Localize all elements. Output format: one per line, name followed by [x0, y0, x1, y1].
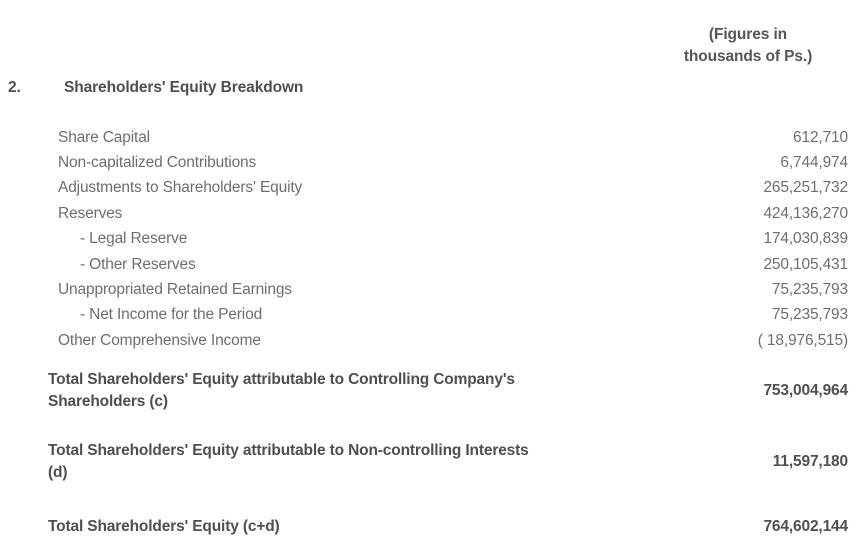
table-row: Non-capitalized Contributions 6,744,974 [0, 150, 865, 175]
row-value: 174,030,839 [700, 227, 865, 252]
row-label: Other Comprehensive Income [0, 328, 700, 353]
table-row: Other Comprehensive Income ( 18,976,515) [0, 328, 865, 353]
total-value: 753,004,964 [700, 354, 865, 422]
row-value: ( 18,976,515) [700, 328, 865, 353]
equity-table-body: Share Capital 612,710 Non-capitalized Co… [0, 125, 865, 550]
row-label: - Other Reserves [0, 252, 700, 277]
total-value: 764,602,144 [700, 494, 865, 550]
row-label: Non-capitalized Contributions [0, 150, 700, 175]
table-row: Reserves 424,136,270 [0, 201, 865, 226]
row-value: 75,235,793 [700, 277, 865, 302]
figures-unit-note-line2: thousands of Ps.) [648, 46, 848, 68]
section-number: 2. [0, 79, 64, 97]
row-value: 75,235,793 [700, 303, 865, 328]
table-row: - Legal Reserve 174,030,839 [0, 227, 865, 252]
table-total-row: Total Shareholders' Equity attributable … [0, 354, 865, 422]
figures-unit-note-line1: (Figures in [648, 24, 848, 46]
row-label: Adjustments to Shareholders' Equity [0, 176, 700, 201]
table-row: - Net Income for the Period 75,235,793 [0, 303, 865, 328]
row-label: - Net Income for the Period [0, 303, 700, 328]
equity-breakdown-page: (Figures in thousands of Ps.) 2. Shareho… [0, 0, 865, 542]
row-label: Reserves [0, 201, 700, 226]
total-label: Total Shareholders' Equity (c+d) [0, 494, 700, 550]
table-total-row: Total Shareholders' Equity attributable … [0, 422, 865, 494]
row-value: 250,105,431 [700, 252, 865, 277]
figures-unit-note: (Figures in thousands of Ps.) [648, 24, 848, 68]
table-row: Adjustments to Shareholders' Equity 265,… [0, 176, 865, 201]
table-row: - Other Reserves 250,105,431 [0, 252, 865, 277]
table-row: Unappropriated Retained Earnings 75,235,… [0, 277, 865, 302]
row-value: 424,136,270 [700, 201, 865, 226]
total-label: Total Shareholders' Equity attributable … [0, 422, 700, 494]
section-heading: 2. Shareholders' Equity Breakdown [0, 79, 865, 97]
total-value: 11,597,180 [700, 422, 865, 494]
row-label: - Legal Reserve [0, 227, 700, 252]
table-row: Share Capital 612,710 [0, 125, 865, 150]
section-title: Shareholders' Equity Breakdown [64, 79, 303, 97]
total-label: Total Shareholders' Equity attributable … [0, 354, 700, 422]
row-value: 612,710 [700, 125, 865, 150]
row-label: Share Capital [0, 125, 700, 150]
row-value: 6,744,974 [700, 150, 865, 175]
table-grand-total-row: Total Shareholders' Equity (c+d) 764,602… [0, 494, 865, 550]
row-label: Unappropriated Retained Earnings [0, 277, 700, 302]
equity-breakdown-table: Share Capital 612,710 Non-capitalized Co… [0, 125, 865, 550]
row-value: 265,251,732 [700, 176, 865, 201]
